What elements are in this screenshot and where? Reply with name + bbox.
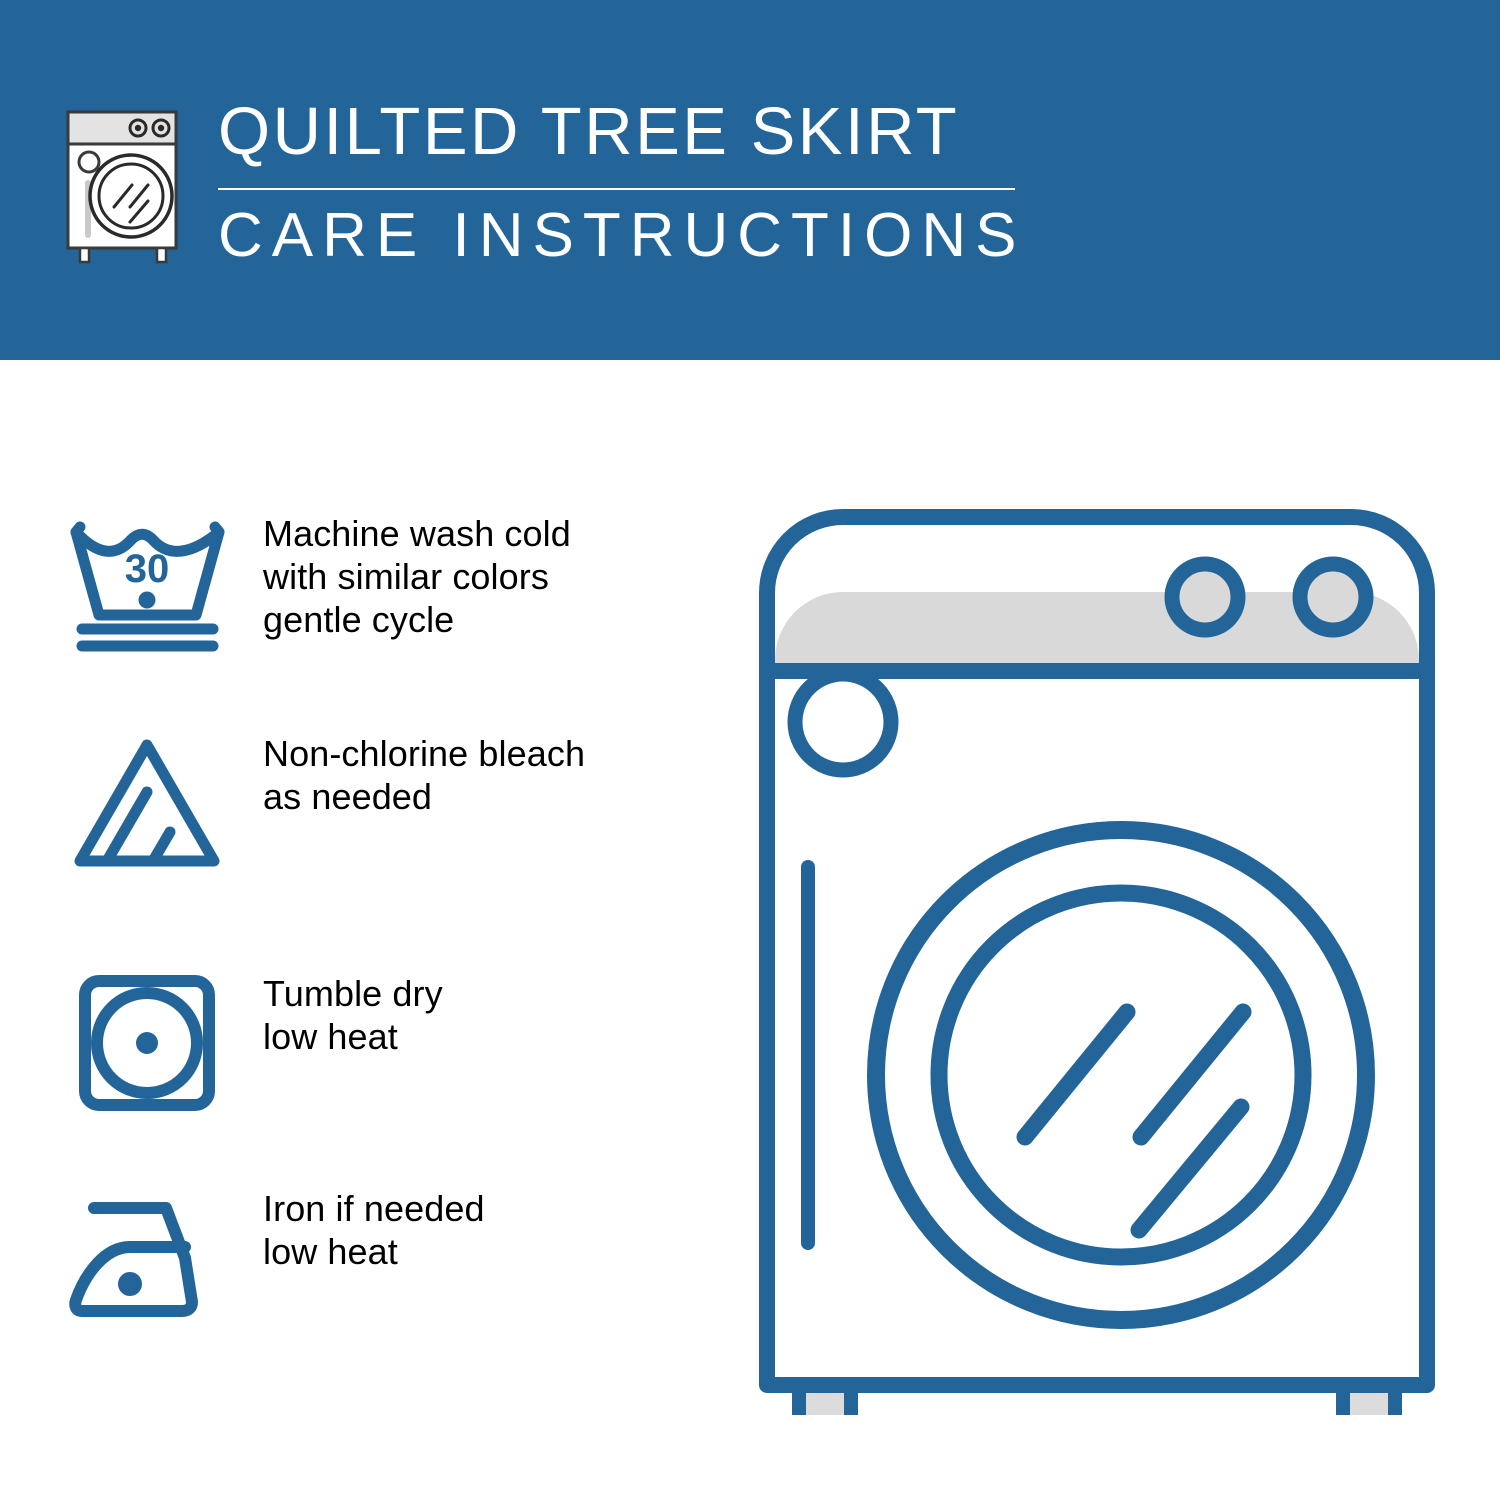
iron-low-heat-icon (60, 1185, 235, 1330)
washer-knob-right (1300, 564, 1366, 630)
washer-button (795, 674, 891, 770)
care-instruction-list: 30 Machine wash cold with similar colors… (0, 360, 720, 1500)
washer-indicator-bar (801, 860, 815, 1250)
page-title: QUILTED TREE SKIRT (218, 96, 1018, 168)
care-text-line: with similar colors (263, 555, 571, 598)
wash-temperature-value: 30 (125, 547, 170, 591)
care-text-line: low heat (263, 1015, 443, 1058)
care-text-line: Iron if needed (263, 1187, 485, 1230)
care-item-label: Machine wash cold with similar colors ge… (263, 510, 571, 641)
care-text-line: Non-chlorine bleach (263, 732, 585, 775)
tumble-dry-low-icon (60, 970, 235, 1115)
care-item-iron: Iron if needed low heat (60, 1185, 700, 1330)
care-item-label: Non-chlorine bleach as needed (263, 730, 585, 818)
care-item-machine-wash: 30 Machine wash cold with similar colors… (60, 510, 700, 655)
washer-door-inner-ring (939, 893, 1303, 1257)
page-subtitle: CARE INSTRUCTIONS (218, 202, 1018, 270)
washing-machine-icon (62, 106, 192, 266)
care-item-label: Tumble dry low heat (263, 970, 443, 1058)
care-text-line: gentle cycle (263, 598, 571, 641)
washing-machine-illustration (735, 485, 1455, 1415)
wash-tub-30-gentle-icon: 30 (60, 510, 235, 655)
care-item-bleach: Non-chlorine bleach as needed (60, 730, 700, 875)
care-text-line: Machine wash cold (263, 512, 571, 555)
header-banner: QUILTED TREE SKIRT CARE INSTRUCTIONS (0, 0, 1500, 360)
care-item-tumble-dry: Tumble dry low heat (60, 970, 700, 1115)
care-item-label: Iron if needed low heat (263, 1185, 485, 1273)
care-text-line: Tumble dry (263, 972, 443, 1015)
washer-knob-left (1172, 564, 1238, 630)
care-text-line: as needed (263, 775, 585, 818)
care-text-line: low heat (263, 1230, 485, 1273)
header-title-group: QUILTED TREE SKIRT CARE INSTRUCTIONS (218, 96, 1018, 270)
title-divider (218, 188, 1015, 190)
non-chlorine-bleach-triangle-icon (60, 730, 235, 875)
